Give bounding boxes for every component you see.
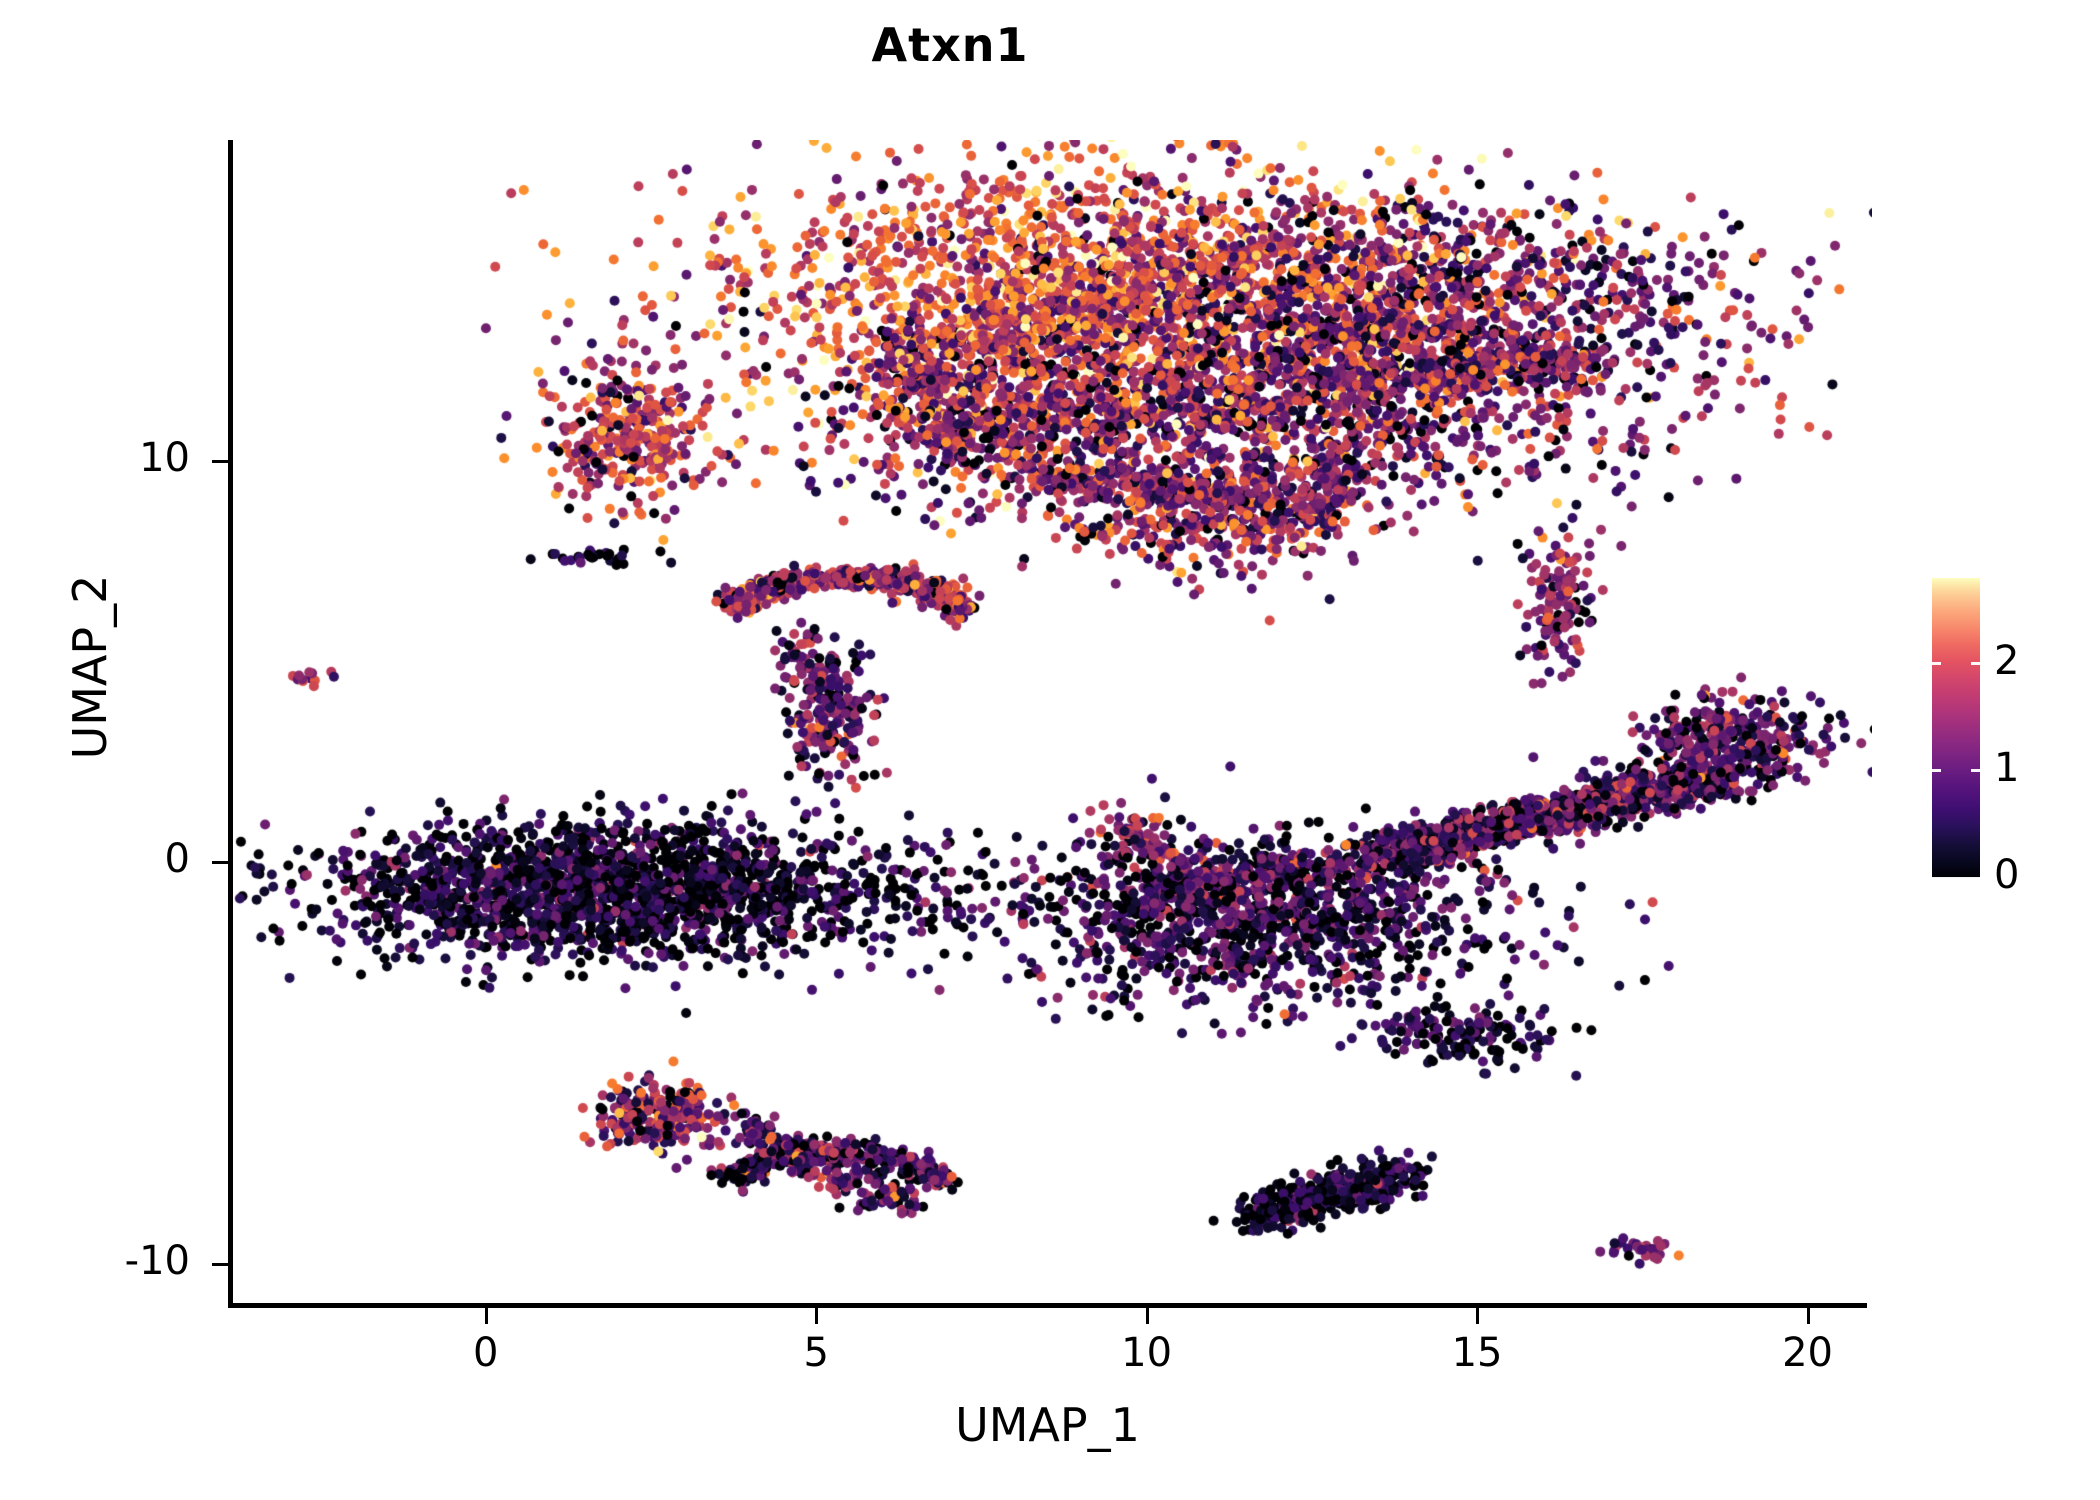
scatter-plot-points [233, 140, 1872, 1308]
y-tick-mark [212, 460, 228, 463]
colorbar: 012 [1932, 578, 2082, 880]
x-tick-mark [1807, 1308, 1810, 1324]
figure-canvas: Atxn1 05101520 -10010 UMAP_1 UMAP_2 012 [0, 0, 2100, 1500]
y-tick-mark [212, 1263, 228, 1266]
x-tick-label: 15 [1397, 1330, 1557, 1376]
y-tick-mark [212, 861, 228, 864]
x-tick-label: 10 [1067, 1330, 1227, 1376]
x-tick-mark [485, 1308, 488, 1324]
colorbar-tick-mark [1932, 877, 1980, 880]
x-tick-label: 5 [736, 1330, 896, 1376]
x-tick-mark [1476, 1308, 1479, 1324]
x-tick-mark [815, 1308, 818, 1324]
y-tick-label: -10 [20, 1238, 190, 1284]
x-axis-label: UMAP_1 [228, 1398, 1867, 1452]
x-tick-label: 20 [1728, 1330, 1888, 1376]
colorbar-tick-label: 0 [1994, 855, 2019, 895]
plot-axes-frame [228, 140, 1867, 1308]
colorbar-tick-label: 1 [1994, 748, 2019, 788]
x-tick-label: 0 [406, 1330, 566, 1376]
colorbar-gradient [1932, 578, 1980, 878]
page-title: Atxn1 [0, 18, 1900, 72]
colorbar-tick-mark [1932, 769, 1980, 772]
x-tick-mark [1146, 1308, 1149, 1324]
colorbar-tick-mark [1932, 662, 1980, 665]
colorbar-tick-label: 2 [1994, 641, 2019, 681]
y-axis-label: UMAP_2 [63, 457, 117, 877]
